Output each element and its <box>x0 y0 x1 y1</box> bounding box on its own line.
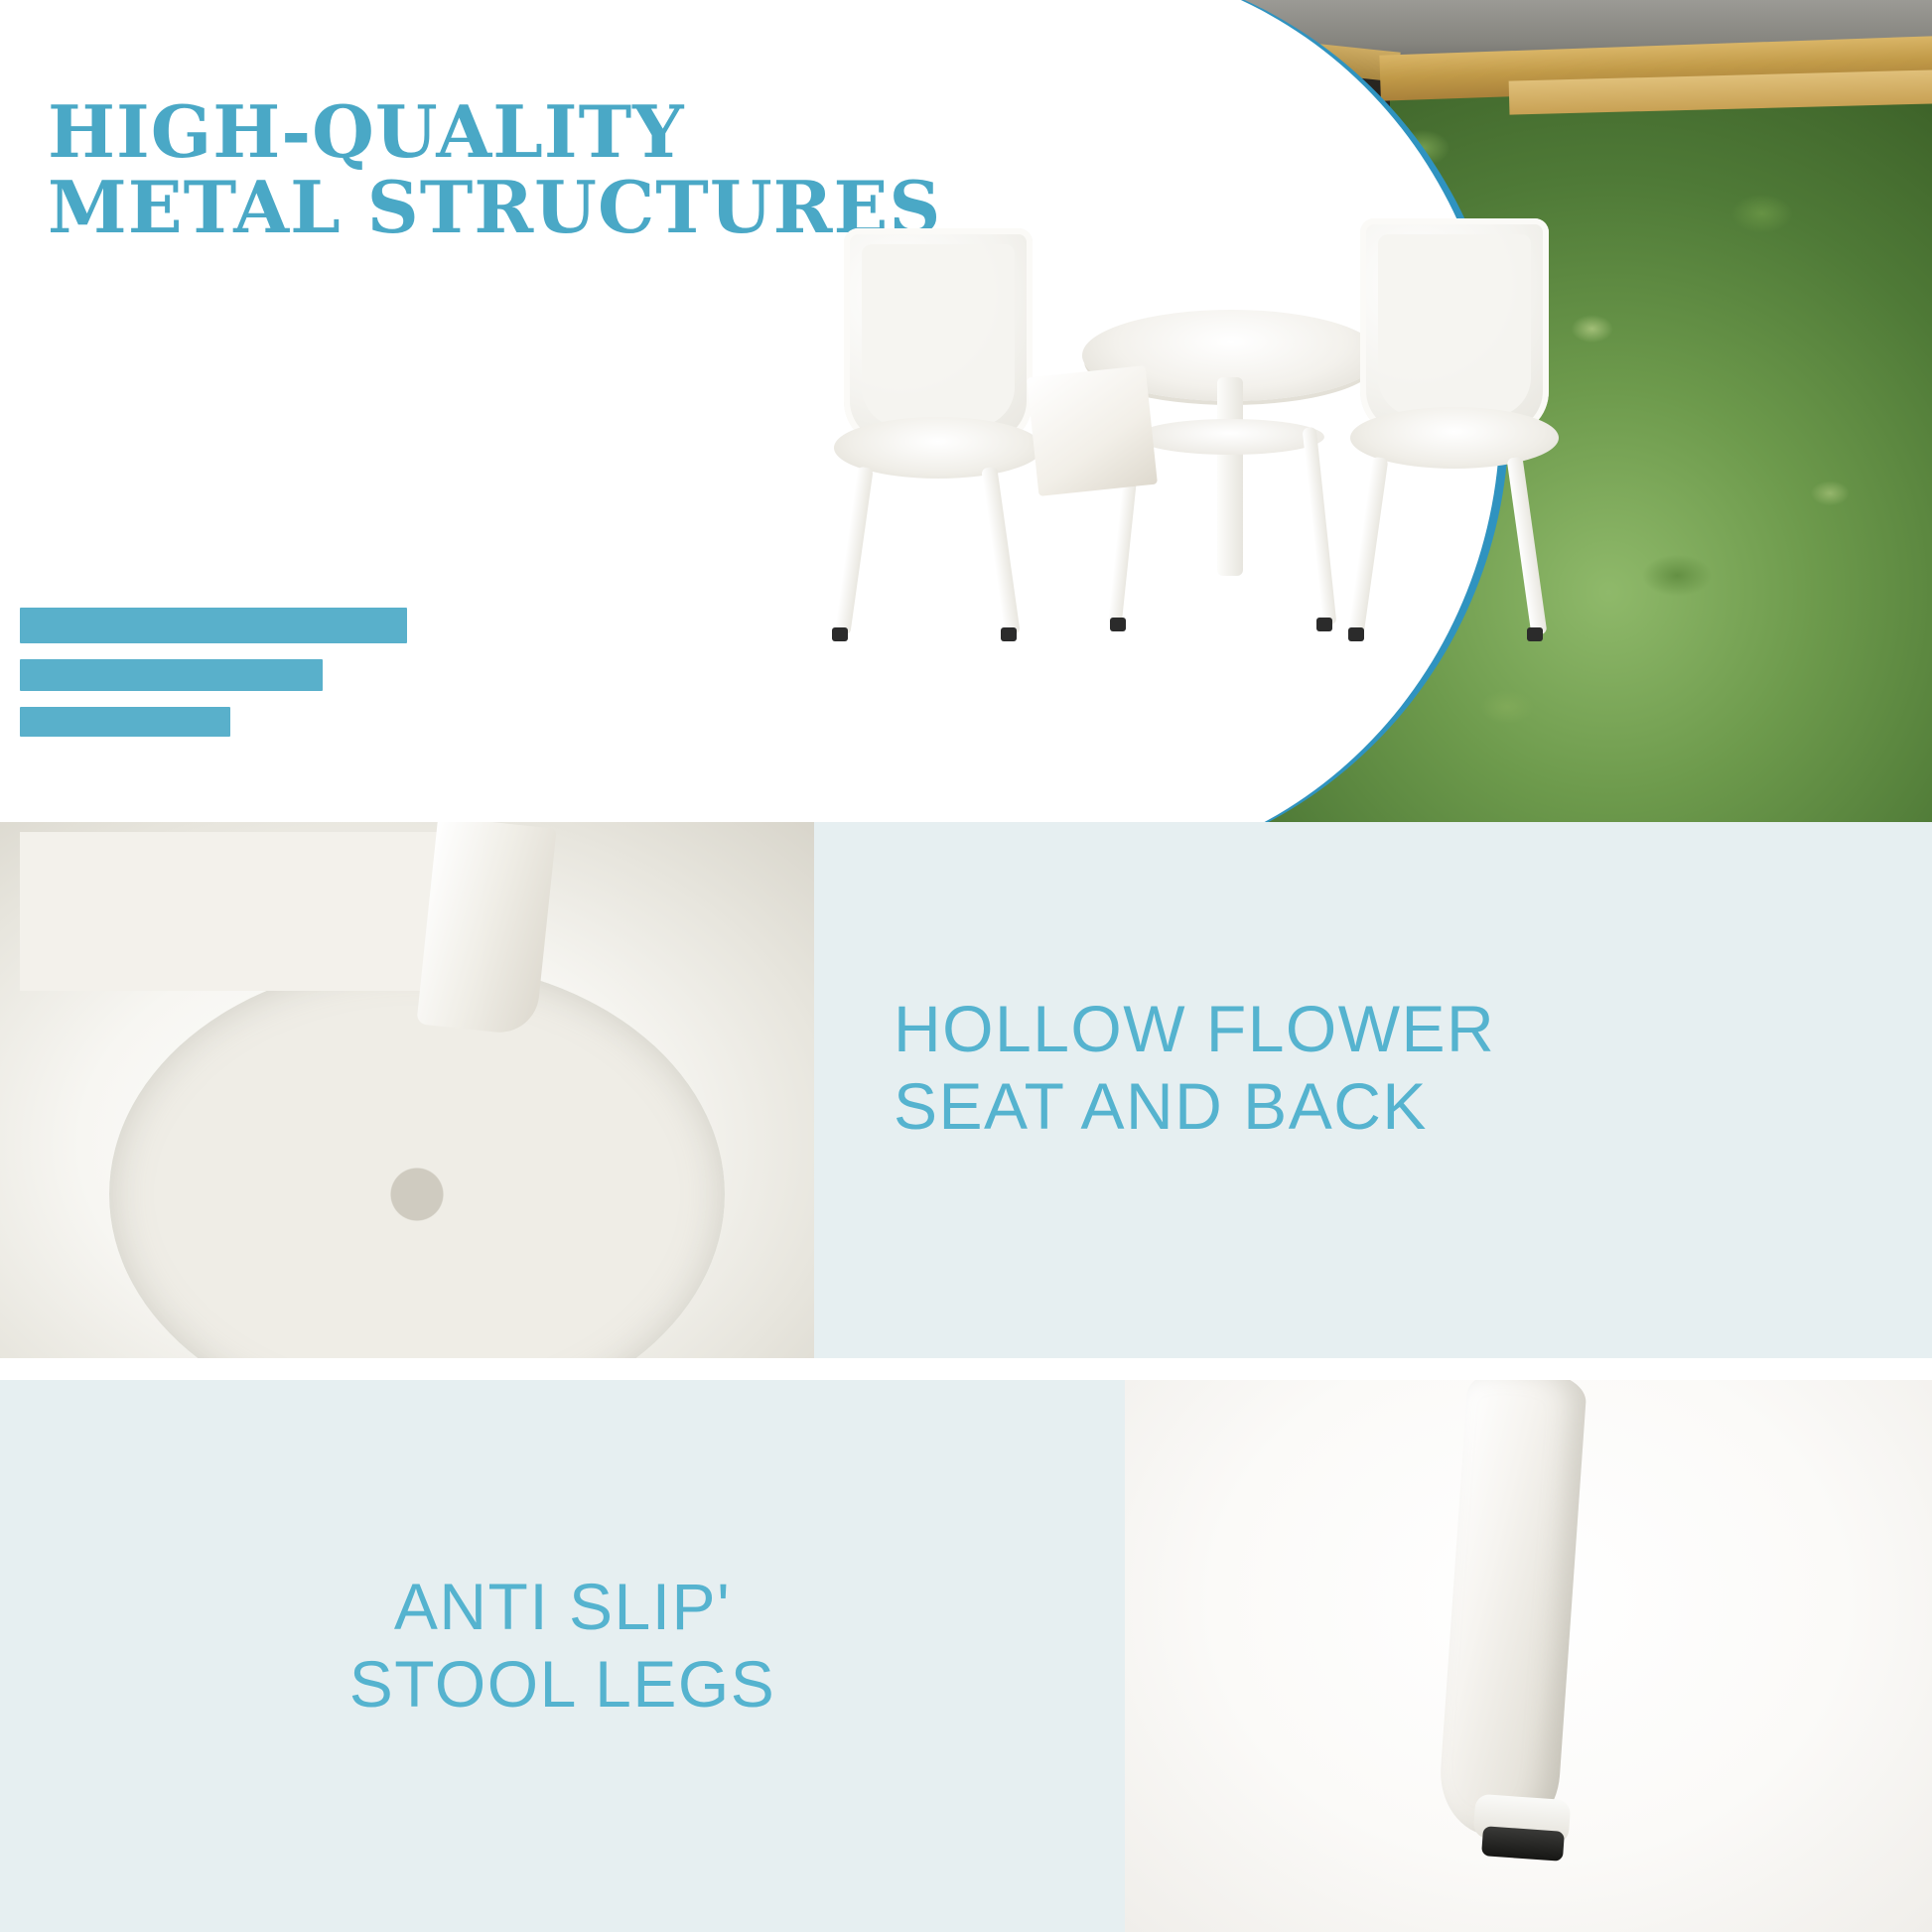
table-foot-right <box>1316 618 1332 631</box>
backrest-post <box>416 822 556 1036</box>
middle-text-panel: HOLLOW FLOWER SEAT AND BACK <box>814 822 1932 1358</box>
decor-bar-medium <box>20 659 323 691</box>
middle-section: HOLLOW FLOWER SEAT AND BACK <box>0 822 1932 1358</box>
table-napkin <box>1027 365 1158 496</box>
bottom-headline-line2: STOOL LEGS <box>0 1646 1125 1724</box>
table-leg-right <box>1303 427 1337 625</box>
table-foot-left <box>1110 618 1126 631</box>
backrest-scrollwork <box>20 832 477 991</box>
table-pillar <box>1217 377 1243 576</box>
bottom-headline-line1: ANTI SLIP' <box>0 1569 1125 1646</box>
table-lower-shelf <box>1136 419 1324 455</box>
chair-right-leg-side <box>1507 457 1548 635</box>
decor-bar-long <box>20 608 407 643</box>
decor-bar-short <box>20 707 230 737</box>
chair-left-foot-front <box>832 627 848 641</box>
middle-headline-line1: HOLLOW FLOWER <box>894 991 1886 1068</box>
chair-right-foot-side <box>1527 627 1543 641</box>
chair-left-backrest <box>844 228 1033 447</box>
chair-right-leg-front <box>1348 457 1389 635</box>
bottom-headline: ANTI SLIP' STOOL LEGS <box>0 1569 1125 1724</box>
infographic-page: HIGH-QUALITY METAL STRUCTURES <box>0 0 1932 1932</box>
seat-closeup-photo <box>0 822 814 1358</box>
floral-seat-pattern <box>109 961 725 1358</box>
chair-leg <box>1437 1380 1587 1841</box>
chair-right-backrest <box>1360 218 1549 437</box>
top-headline-line1: HIGH-QUALITY <box>48 89 685 174</box>
bottom-text-panel: ANTI SLIP' STOOL LEGS <box>0 1380 1125 1932</box>
middle-headline: HOLLOW FLOWER SEAT AND BACK <box>894 991 1886 1146</box>
chair-left-leg-side <box>981 467 1021 636</box>
top-section: HIGH-QUALITY METAL STRUCTURES <box>0 0 1932 822</box>
stool-leg-closeup-photo <box>1125 1380 1932 1932</box>
chair-right-foot-front <box>1348 627 1364 641</box>
bistro-furniture-group <box>923 268 1797 804</box>
top-headline: HIGH-QUALITY METAL STRUCTURES <box>48 94 1120 246</box>
chair-left-leg-front <box>834 467 874 636</box>
chair-left-foot-side <box>1001 627 1017 641</box>
middle-headline-line2: SEAT AND BACK <box>894 1068 1886 1146</box>
anti-slip-foot-pad <box>1481 1826 1565 1862</box>
bottom-section: ANTI SLIP' STOOL LEGS <box>0 1380 1932 1932</box>
decorative-bars <box>20 608 437 753</box>
